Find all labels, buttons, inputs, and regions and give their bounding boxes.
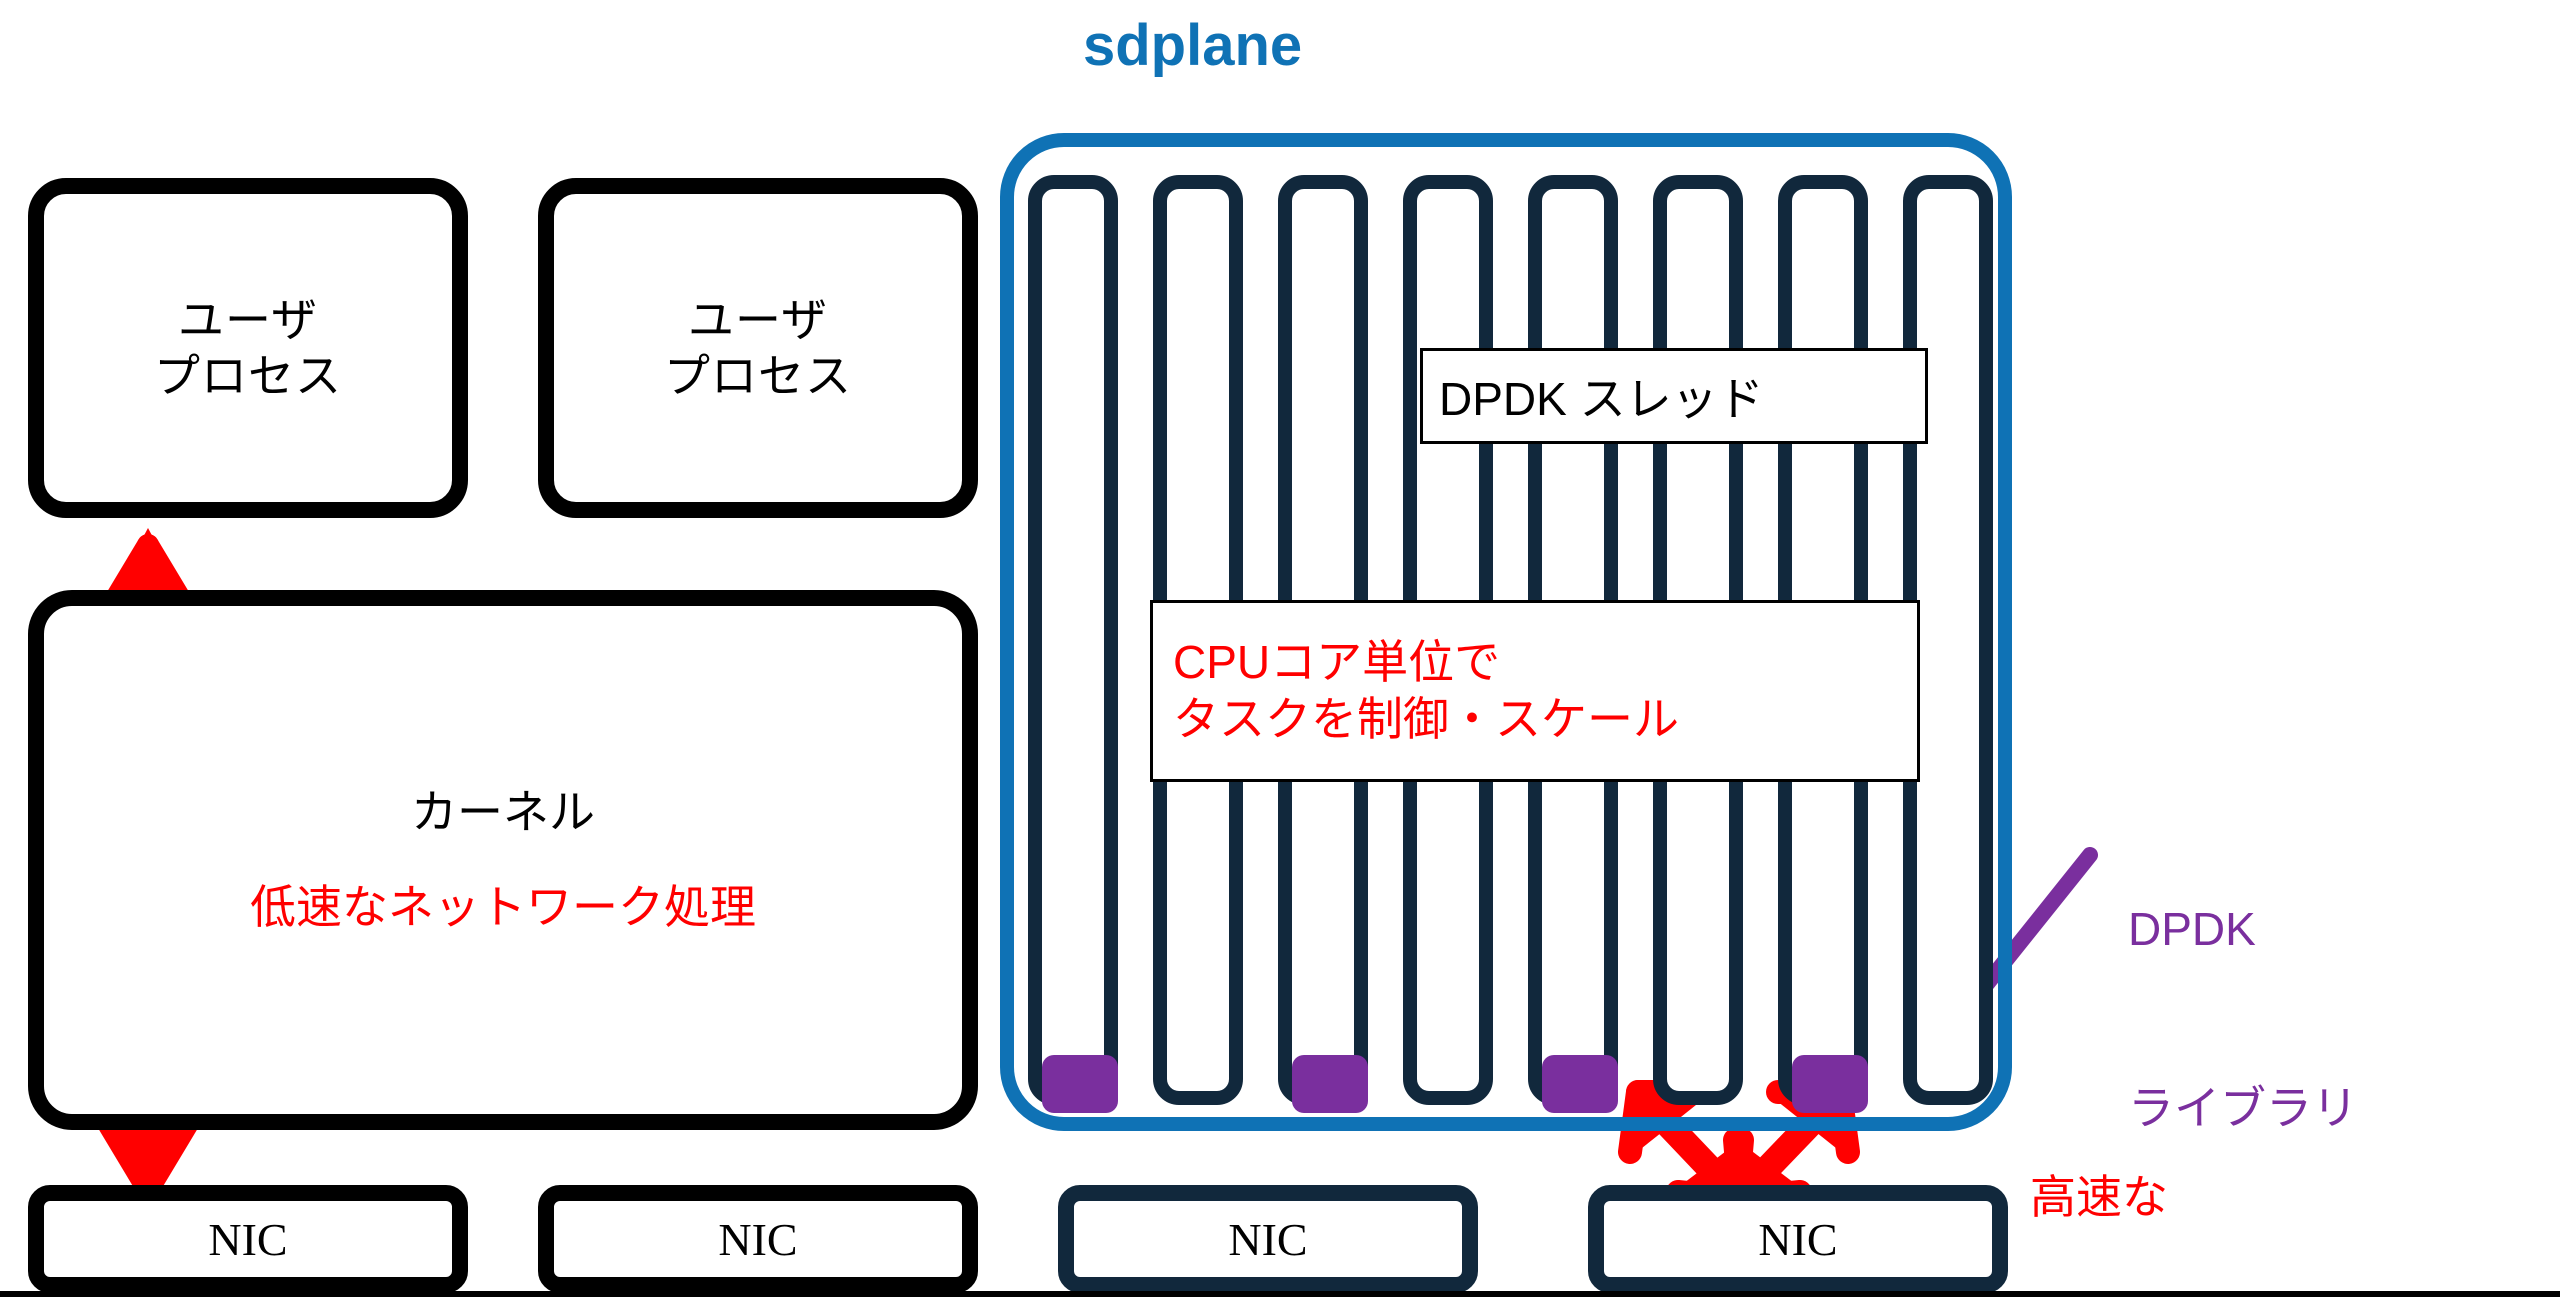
cpu-core-note-box: CPUコア単位で タスクを制御・スケール bbox=[1150, 600, 1920, 782]
nic-box-left-2: NIC bbox=[538, 1185, 978, 1293]
user-process-line2: プロセス bbox=[664, 350, 852, 402]
dpdk-library-block-2 bbox=[1292, 1055, 1368, 1113]
kernel-title: カーネル bbox=[411, 778, 595, 847]
user-process-label-2: ユーザ プロセス bbox=[664, 292, 852, 404]
user-process-box-1: ユーザ プロセス bbox=[28, 178, 468, 518]
user-process-label-1: ユーザ プロセス bbox=[154, 292, 342, 404]
user-process-box-2: ユーザ プロセス bbox=[538, 178, 978, 518]
user-process-line1: ユーザ bbox=[688, 294, 828, 346]
user-process-line1: ユーザ bbox=[178, 294, 318, 346]
dpdk-thread-1 bbox=[1028, 175, 1118, 1105]
dpdk-library-block-4 bbox=[1792, 1055, 1868, 1113]
cpu-core-note-line2: タスクを制御・スケール bbox=[1173, 691, 1679, 748]
dpdk-thread-label: DPDK スレッド bbox=[1439, 363, 1764, 429]
nic-box-right-2: NIC bbox=[1588, 1185, 2008, 1293]
diagram-canvas: ユーザ プロセス ユーザ プロセス カーネル 低速なネットワーク処理 NIC N… bbox=[0, 0, 2560, 1297]
kernel-box: カーネル 低速なネットワーク処理 bbox=[28, 590, 978, 1130]
nic-label: NIC bbox=[1228, 1213, 1307, 1266]
nic-label: NIC bbox=[718, 1213, 797, 1266]
fast-network-note: 高速な ネットワーク処理 bbox=[2030, 1048, 2398, 1297]
nic-label: NIC bbox=[208, 1213, 287, 1266]
sdplane-title: sdplane bbox=[1083, 12, 1302, 79]
dpdk-library-block-1 bbox=[1042, 1055, 1118, 1113]
nic-box-left-1: NIC bbox=[28, 1185, 468, 1293]
nic-box-right-1: NIC bbox=[1058, 1185, 1478, 1293]
kernel-slow-network-note: 低速なネットワーク処理 bbox=[250, 873, 756, 942]
cpu-core-note-line1: CPUコア単位で bbox=[1173, 634, 1500, 691]
nic-label: NIC bbox=[1758, 1213, 1837, 1266]
user-process-line2: プロセス bbox=[154, 350, 342, 402]
dpdk-library-label-line1: DPDK bbox=[2128, 900, 2358, 960]
dpdk-thread-label-box: DPDK スレッド bbox=[1420, 348, 1928, 444]
dpdk-library-block-3 bbox=[1542, 1055, 1618, 1113]
fast-network-note-line1: 高速な bbox=[2030, 1168, 2398, 1228]
bottom-divider bbox=[0, 1291, 2560, 1297]
